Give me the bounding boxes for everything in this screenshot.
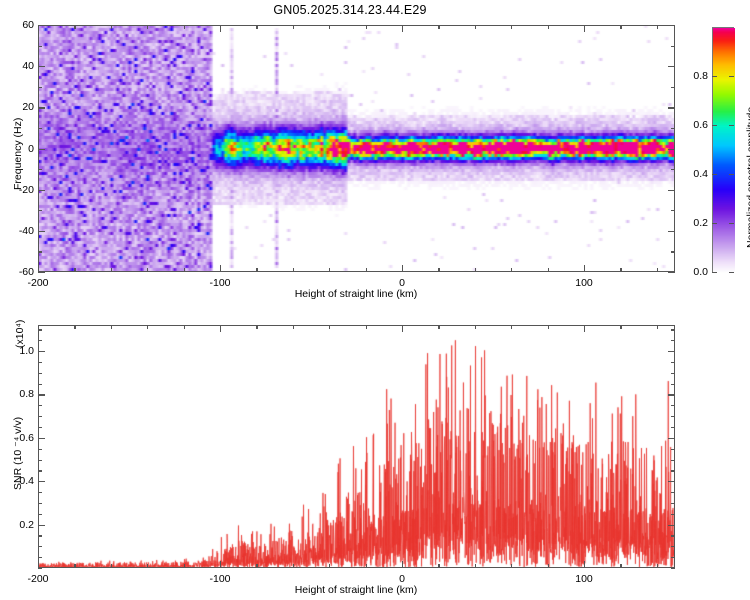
y-tick-label: 60 — [4, 19, 34, 31]
x-minor-tick — [293, 268, 294, 272]
y-minor-tick — [38, 568, 42, 569]
x-minor-tick — [147, 25, 148, 29]
x-minor-tick — [111, 268, 112, 272]
x-minor-tick — [475, 325, 476, 329]
snr-yaxis-exponent: (x10⁴) — [14, 320, 26, 348]
y-major-tick — [38, 272, 45, 273]
y-minor-tick — [671, 362, 675, 363]
x-minor-tick — [74, 325, 75, 329]
colorbar-tick-label: 0.4 — [680, 168, 708, 180]
x-minor-tick — [256, 325, 257, 329]
colorbar-label: Normalized spectral amplitude — [745, 107, 750, 248]
y-minor-tick — [38, 128, 42, 129]
y-minor-tick — [38, 87, 42, 88]
y-major-tick — [38, 394, 45, 395]
y-minor-tick — [671, 503, 675, 504]
x-minor-tick — [657, 564, 658, 568]
x-tick-label: -100 — [209, 573, 230, 585]
y-tick-label: 40 — [4, 60, 34, 72]
spectrogram-yaxis-label: Frequency (Hz) — [12, 118, 24, 190]
x-minor-tick — [548, 25, 549, 29]
y-minor-tick — [671, 514, 675, 515]
x-minor-tick — [657, 325, 658, 329]
figure-root: GN05.2025.314.23.44.E29 -200-1000100-60-… — [0, 0, 750, 600]
x-minor-tick — [548, 564, 549, 568]
y-minor-tick — [38, 169, 42, 170]
x-minor-tick — [511, 268, 512, 272]
colorbar-tick-label: 0.0 — [680, 266, 708, 278]
x-tick-label: 100 — [575, 573, 593, 585]
x-major-tick — [402, 25, 403, 32]
x-minor-tick — [511, 325, 512, 329]
snr-xaxis-label: Height of straight line (km) — [295, 584, 418, 596]
y-minor-tick — [671, 557, 675, 558]
colorbar-tick — [712, 223, 717, 224]
y-tick-label: 20 — [4, 101, 34, 113]
x-minor-tick — [511, 564, 512, 568]
y-minor-tick — [38, 362, 42, 363]
snr-yaxis-label: SNR (10 ⁻⁴ v/v) — [12, 417, 24, 490]
x-minor-tick — [111, 325, 112, 329]
y-tick-label: -40 — [4, 225, 34, 237]
x-minor-tick — [256, 268, 257, 272]
x-minor-tick — [184, 268, 185, 272]
x-tick-label: -200 — [27, 277, 48, 289]
x-major-tick — [584, 25, 585, 32]
x-minor-tick — [475, 268, 476, 272]
x-minor-tick — [657, 268, 658, 272]
x-minor-tick — [74, 25, 75, 29]
y-minor-tick — [38, 514, 42, 515]
x-minor-tick — [438, 268, 439, 272]
x-minor-tick — [293, 564, 294, 568]
y-minor-tick — [671, 340, 675, 341]
y-minor-tick — [38, 46, 42, 47]
y-minor-tick — [671, 169, 675, 170]
y-minor-tick — [671, 87, 675, 88]
y-major-tick — [668, 66, 675, 67]
x-minor-tick — [366, 25, 367, 29]
y-minor-tick — [671, 535, 675, 536]
y-major-tick — [38, 525, 45, 526]
y-minor-tick — [671, 373, 675, 374]
spectrogram-xaxis-label: Height of straight line (km) — [295, 288, 418, 300]
x-minor-tick — [293, 25, 294, 29]
y-minor-tick — [671, 492, 675, 493]
y-minor-tick — [38, 405, 42, 406]
spectrogram-panel — [38, 25, 675, 272]
y-major-tick — [668, 190, 675, 191]
x-minor-tick — [366, 268, 367, 272]
x-minor-tick — [620, 325, 621, 329]
colorbar-tick — [712, 125, 717, 126]
colorbar-tick — [729, 223, 734, 224]
snr-frame — [38, 325, 675, 568]
y-minor-tick — [38, 340, 42, 341]
y-major-tick — [38, 438, 45, 439]
y-minor-tick — [38, 492, 42, 493]
y-minor-tick — [671, 416, 675, 417]
y-minor-tick — [671, 427, 675, 428]
x-minor-tick — [74, 564, 75, 568]
x-minor-tick — [475, 564, 476, 568]
y-minor-tick — [38, 251, 42, 252]
y-major-tick — [668, 438, 675, 439]
x-minor-tick — [438, 325, 439, 329]
x-minor-tick — [74, 268, 75, 272]
colorbar-tick-label: 0.6 — [680, 119, 708, 131]
x-tick-label: -200 — [27, 573, 48, 585]
colorbar-tick — [712, 272, 717, 273]
x-major-tick — [402, 265, 403, 272]
y-minor-tick — [671, 470, 675, 471]
x-minor-tick — [329, 25, 330, 29]
x-minor-tick — [111, 25, 112, 29]
colorbar-tick — [729, 76, 734, 77]
y-minor-tick — [38, 210, 42, 211]
y-major-tick — [38, 481, 45, 482]
colorbar-tick — [729, 272, 734, 273]
x-minor-tick — [548, 325, 549, 329]
x-major-tick — [220, 561, 221, 568]
x-major-tick — [220, 25, 221, 32]
y-major-tick — [38, 107, 45, 108]
y-major-tick — [668, 107, 675, 108]
y-tick-label: 0.8 — [4, 388, 34, 400]
colorbar — [712, 27, 734, 272]
x-minor-tick — [111, 564, 112, 568]
y-minor-tick — [38, 460, 42, 461]
colorbar-tick — [712, 76, 717, 77]
x-major-tick — [38, 265, 39, 272]
y-major-tick — [38, 66, 45, 67]
x-minor-tick — [329, 564, 330, 568]
y-major-tick — [668, 394, 675, 395]
y-minor-tick — [671, 46, 675, 47]
y-minor-tick — [671, 449, 675, 450]
y-minor-tick — [38, 449, 42, 450]
x-minor-tick — [511, 25, 512, 29]
y-minor-tick — [38, 503, 42, 504]
y-minor-tick — [38, 416, 42, 417]
x-minor-tick — [438, 564, 439, 568]
x-minor-tick — [256, 564, 257, 568]
x-major-tick — [584, 265, 585, 272]
y-tick-label: -60 — [4, 266, 34, 278]
y-major-tick — [668, 351, 675, 352]
y-major-tick — [38, 25, 45, 26]
x-tick-label: 100 — [575, 277, 593, 289]
y-major-tick — [38, 190, 45, 191]
x-minor-tick — [620, 564, 621, 568]
x-major-tick — [402, 325, 403, 332]
y-minor-tick — [671, 546, 675, 547]
y-minor-tick — [671, 210, 675, 211]
x-major-tick — [220, 325, 221, 332]
x-minor-tick — [475, 25, 476, 29]
x-minor-tick — [620, 25, 621, 29]
x-minor-tick — [147, 325, 148, 329]
y-major-tick — [668, 231, 675, 232]
y-tick-label: 0.2 — [4, 519, 34, 531]
y-minor-tick — [671, 384, 675, 385]
colorbar-tick — [729, 125, 734, 126]
y-major-tick — [38, 231, 45, 232]
x-major-tick — [220, 265, 221, 272]
x-minor-tick — [184, 325, 185, 329]
figure-title: GN05.2025.314.23.44.E29 — [0, 3, 700, 17]
y-major-tick — [668, 25, 675, 26]
y-minor-tick — [671, 251, 675, 252]
y-minor-tick — [671, 405, 675, 406]
y-minor-tick — [38, 535, 42, 536]
colorbar-tick-label: 0.8 — [680, 70, 708, 82]
y-major-tick — [38, 351, 45, 352]
x-major-tick — [584, 325, 585, 332]
y-minor-tick — [671, 568, 675, 569]
x-minor-tick — [657, 25, 658, 29]
y-major-tick — [668, 525, 675, 526]
x-minor-tick — [366, 325, 367, 329]
y-major-tick — [668, 272, 675, 273]
x-tick-label: -100 — [209, 277, 230, 289]
y-minor-tick — [38, 384, 42, 385]
x-minor-tick — [620, 268, 621, 272]
colorbar-gradient — [713, 28, 735, 273]
y-minor-tick — [38, 470, 42, 471]
spectrogram-frame — [38, 25, 675, 272]
colorbar-tick — [729, 174, 734, 175]
y-major-tick — [668, 149, 675, 150]
x-major-tick — [38, 325, 39, 332]
x-minor-tick — [184, 564, 185, 568]
x-minor-tick — [147, 564, 148, 568]
x-minor-tick — [184, 25, 185, 29]
y-major-tick — [668, 481, 675, 482]
x-minor-tick — [366, 564, 367, 568]
y-minor-tick — [38, 427, 42, 428]
y-minor-tick — [671, 128, 675, 129]
x-major-tick — [584, 561, 585, 568]
x-minor-tick — [329, 325, 330, 329]
x-minor-tick — [256, 25, 257, 29]
x-minor-tick — [548, 268, 549, 272]
y-minor-tick — [38, 546, 42, 547]
x-minor-tick — [293, 325, 294, 329]
y-minor-tick — [38, 557, 42, 558]
snr-panel — [38, 325, 675, 568]
y-minor-tick — [671, 460, 675, 461]
x-major-tick — [38, 561, 39, 568]
x-minor-tick — [438, 25, 439, 29]
x-minor-tick — [147, 268, 148, 272]
y-major-tick — [38, 149, 45, 150]
colorbar-tick — [712, 174, 717, 175]
colorbar-tick-label: 0.2 — [680, 217, 708, 229]
x-minor-tick — [329, 268, 330, 272]
y-minor-tick — [671, 329, 675, 330]
x-major-tick — [402, 561, 403, 568]
y-minor-tick — [38, 373, 42, 374]
